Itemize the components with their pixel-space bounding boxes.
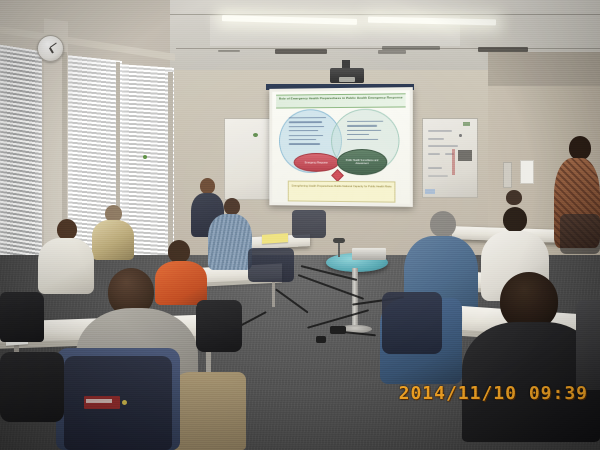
attendee-torso (208, 214, 252, 270)
microphone-icon (333, 238, 345, 243)
slide-bullets-right (347, 121, 387, 143)
attendee-head (503, 207, 527, 232)
wall-bracket (503, 162, 512, 188)
attendee-torso (576, 300, 600, 390)
clock-hand-hour (49, 47, 53, 53)
whiteboard-marker-red (452, 149, 455, 175)
attendee-head (506, 190, 522, 205)
slide-bullets-left (289, 117, 328, 148)
slide-oval-red: Emergency Response (294, 153, 339, 172)
equipment-box (352, 248, 386, 260)
ceiling-vent (378, 50, 406, 54)
bag-left (0, 292, 44, 342)
attendee-head (57, 219, 77, 240)
whiteboard-right (422, 118, 478, 198)
whiteboard-sticker (463, 122, 470, 126)
whiteboard-writing (428, 153, 440, 155)
whiteboard-writing (428, 130, 452, 132)
whiteboard-magnet-icon (253, 133, 258, 137)
projection-screen: Role of Emergency Health Preparedness in… (269, 87, 412, 207)
presenter-head (200, 178, 215, 194)
ceiling-vent (275, 49, 327, 54)
attendee-head (569, 136, 591, 160)
wall-clock (37, 35, 64, 62)
attendee-head (430, 211, 456, 237)
desk-leg (272, 281, 275, 307)
slide-banner: Strengthening Health Preparedness Builds… (288, 181, 396, 203)
bag-foreground-left (0, 352, 64, 422)
wall-notice (520, 160, 534, 184)
attendee-legs-khaki (172, 372, 246, 450)
slide-oval-red-label: Emergency Response (295, 161, 338, 164)
chair-sticker-text (86, 399, 112, 403)
attendee-head (168, 240, 190, 263)
bag-center (196, 300, 242, 352)
chair-sticker (84, 396, 120, 409)
slide-oval-green-label: Public Health Surveillance and Assessmen… (338, 159, 386, 166)
whiteboard-panel-dark (458, 150, 472, 161)
wall-clip-green (143, 155, 147, 159)
chair-sticker-dot (122, 400, 127, 405)
presentation-slide: Role of Emergency Health Preparedness in… (272, 90, 410, 204)
classroom-photo: Role of Emergency Health Preparedness in… (0, 0, 600, 450)
right-wall-soffit (488, 52, 600, 86)
chair-back-panel (382, 292, 442, 354)
whiteboard-writing (428, 175, 448, 177)
chair-back-panel (248, 248, 294, 282)
projector-lens-icon (339, 77, 355, 82)
whiteboard-writing (428, 138, 444, 140)
paper-yellow-pad (262, 233, 288, 244)
ceiling-vent (218, 50, 240, 52)
microphone-stand (338, 243, 340, 257)
camera-timestamp: 2014/11/10 09:39 (399, 383, 588, 404)
whiteboard-writing (428, 145, 458, 147)
attendee-torso (38, 238, 94, 294)
attendee-head (224, 198, 240, 215)
whiteboard-magnet-icon (459, 134, 462, 137)
chair-back-panel (292, 210, 326, 238)
slide-oval-green: Public Health Surveillance and Assessmen… (337, 149, 387, 175)
whiteboard-sticky-note (425, 189, 435, 194)
ceiling-seam (150, 14, 600, 15)
ceiling-vent (382, 46, 440, 50)
ceiling-projector (330, 68, 364, 83)
attendee-torso (155, 261, 207, 305)
cable-connector (330, 326, 346, 334)
slide-diamond-marker (331, 169, 344, 182)
slide-title: Role of Emergency Health Preparedness in… (276, 93, 406, 108)
whiteboard-writing (428, 167, 442, 169)
attendee-torso (92, 220, 134, 260)
bag-right (560, 214, 600, 254)
